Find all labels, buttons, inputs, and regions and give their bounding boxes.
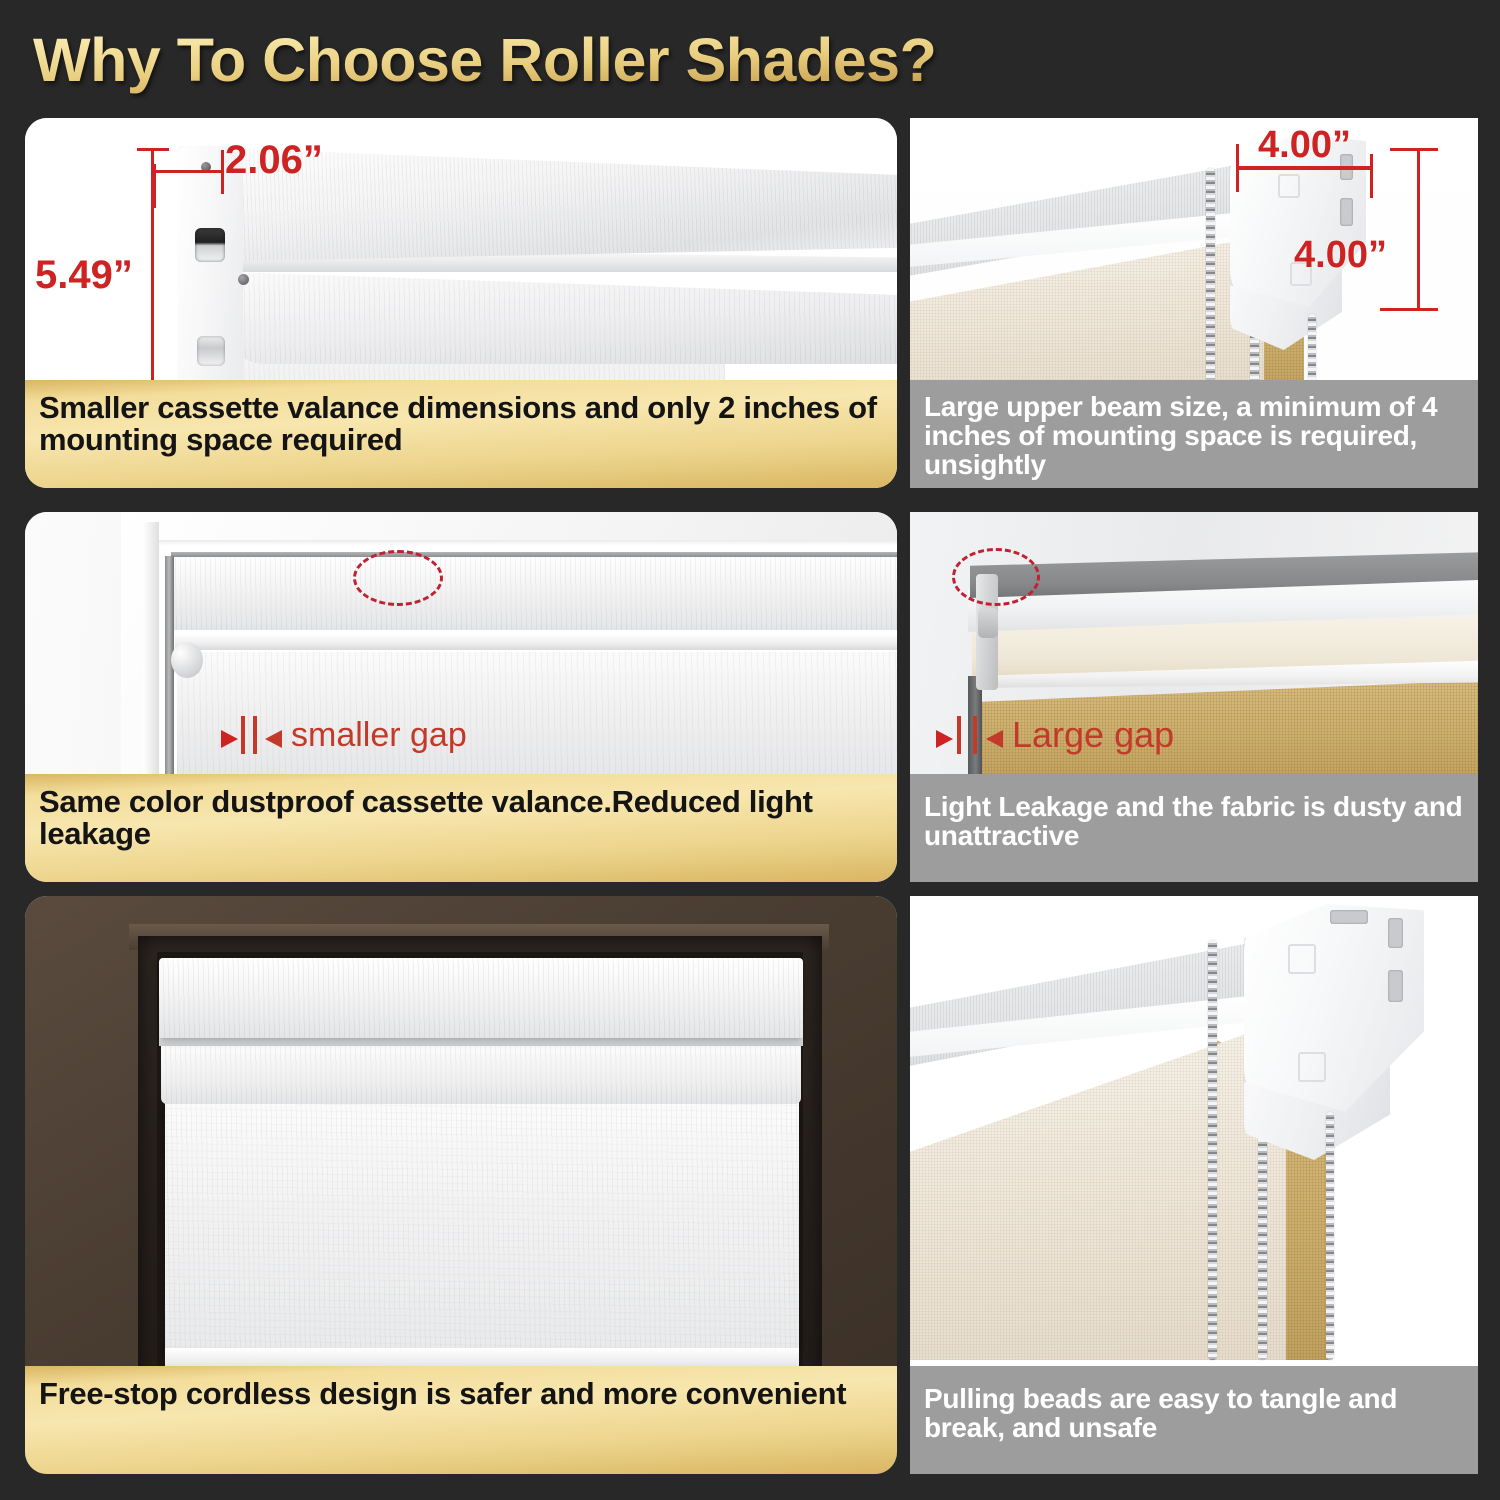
bead-chain[interactable] — [1208, 940, 1217, 1360]
width-dimension-label: 4.00” — [1258, 124, 1351, 167]
panel-caption-dustproof-valance: Same color dustproof cassette valance.Re… — [25, 774, 897, 882]
width-dimension-line — [153, 170, 223, 173]
bracket-knob — [978, 608, 998, 638]
panel-pulling-beads: Pulling beads are easy to tangle and bre… — [910, 896, 1478, 1474]
panel-caption-pulling-beads: Pulling beads are easy to tangle and bre… — [910, 1366, 1478, 1474]
shade-fabric — [177, 652, 897, 774]
cassette-valance — [161, 1044, 801, 1104]
gap-marker-line — [241, 716, 245, 754]
dashed-highlight-circle-icon — [952, 548, 1040, 606]
height-dimension-line — [151, 148, 154, 406]
gap-arrow-left-icon — [986, 730, 1003, 748]
bead-chain[interactable] — [1326, 1112, 1334, 1360]
gap-label: Large gap — [1012, 714, 1174, 756]
dimension-tick — [1390, 148, 1438, 151]
page-title: Why To Choose Roller Shades? — [33, 24, 1133, 96]
height-dimension-line — [1417, 148, 1420, 310]
bracket-slot-icon — [1340, 198, 1353, 226]
cassette-valance — [171, 554, 897, 630]
gap-marker-line — [957, 716, 961, 754]
panel-caption-light-leakage: Light Leakage and the fabric is dusty an… — [910, 774, 1478, 882]
bracket-slot-icon — [1388, 918, 1403, 948]
panel-caption-beam-size: Large upper beam size, a minimum of 4 in… — [910, 380, 1478, 488]
panel-caption-cordless-design: Free-stop cordless design is safer and m… — [25, 1366, 897, 1474]
gap-label: smaller gap — [291, 716, 467, 755]
bracket-emboss-icon — [1278, 174, 1300, 198]
panel-cordless-design: Free-stop cordless design is safer and m… — [25, 896, 897, 1474]
height-dimension-label: 5.49” — [35, 253, 133, 298]
dimension-tick — [137, 148, 169, 151]
dashed-highlight-circle-icon — [353, 550, 443, 606]
valance-lip — [175, 634, 897, 650]
cassette-headrail — [159, 958, 803, 1038]
end-cap-slot-icon — [195, 228, 225, 262]
valance-top-edge — [171, 552, 897, 557]
end-cap-clip-icon — [197, 336, 225, 366]
gap-arrow-right-icon — [936, 730, 953, 748]
shade-fabric — [165, 1102, 799, 1354]
width-dimension-label: 2.06” — [225, 138, 323, 183]
window-frame-left-edge — [143, 522, 159, 784]
gap-marker-line — [253, 716, 257, 754]
dimension-extension-line — [1370, 154, 1373, 198]
panel-dustproof-valance: smaller gap Same color dustproof cassett… — [25, 512, 897, 882]
panel-light-leakage: Large gap Light Leakage and the fabric i… — [910, 512, 1478, 882]
panel-caption-cassette-dimensions: Smaller cassette valance dimensions and … — [25, 380, 897, 488]
panel-beam-size: 4.00” 4.00” Large upper beam size, a min… — [910, 118, 1478, 488]
height-dimension-label: 4.00” — [1294, 234, 1387, 277]
valance-end-cap — [177, 146, 243, 418]
screw-icon — [238, 274, 249, 285]
panel-cassette-dimensions: 2.06” 5.49” Smaller cassette valance dim… — [25, 118, 897, 488]
bracket-emboss-icon — [1288, 944, 1316, 974]
dimension-tick — [1380, 308, 1438, 311]
bracket-slot-icon — [1388, 970, 1403, 1002]
gap-arrow-right-icon — [221, 730, 238, 748]
bracket-slot-icon — [1330, 910, 1368, 924]
bead-chain — [1206, 168, 1215, 398]
bracket-emboss-icon — [1298, 1052, 1326, 1082]
gap-marker-line — [973, 716, 977, 754]
gap-arrow-left-icon — [265, 730, 282, 748]
roller-end — [171, 642, 203, 678]
